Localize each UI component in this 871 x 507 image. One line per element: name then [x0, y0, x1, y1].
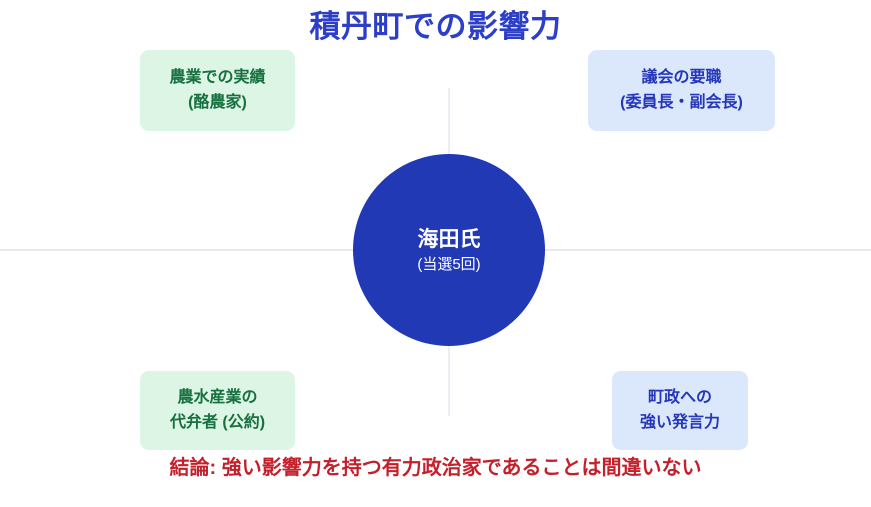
quadrant-card-bottom-right: 町政への 強い発言力 [612, 371, 748, 450]
quadrant-card-top-left: 農業での実績 (酪農家) [140, 50, 295, 131]
quadrant-card-bottom-left-label: 農水産業の 代弁者 (公約) [170, 386, 265, 436]
center-hub-node: 海田氏 (当選5回) [353, 154, 545, 346]
page-title: 積丹町での影響力 [0, 8, 871, 45]
quadrant-card-bottom-right-label: 町政への 強い発言力 [640, 386, 720, 436]
center-hub-subtitle: (当選5回) [417, 255, 480, 275]
quadrant-card-top-left-label: 農業での実績 (酪農家) [169, 66, 265, 116]
influence-diagram-canvas: 積丹町での影響力 農業での実績 (酪農家) 議会の要職 (委員長・副会長) 農水… [0, 0, 871, 507]
quadrant-card-top-right: 議会の要職 (委員長・副会長) [588, 50, 775, 131]
center-hub-name: 海田氏 [418, 226, 481, 253]
conclusion-text: 結論: 強い影響力を持つ有力政治家であることは間違いない [0, 455, 871, 481]
quadrant-card-top-right-label: 議会の要職 (委員長・副会長) [620, 66, 743, 116]
quadrant-card-bottom-left: 農水産業の 代弁者 (公約) [140, 371, 295, 450]
